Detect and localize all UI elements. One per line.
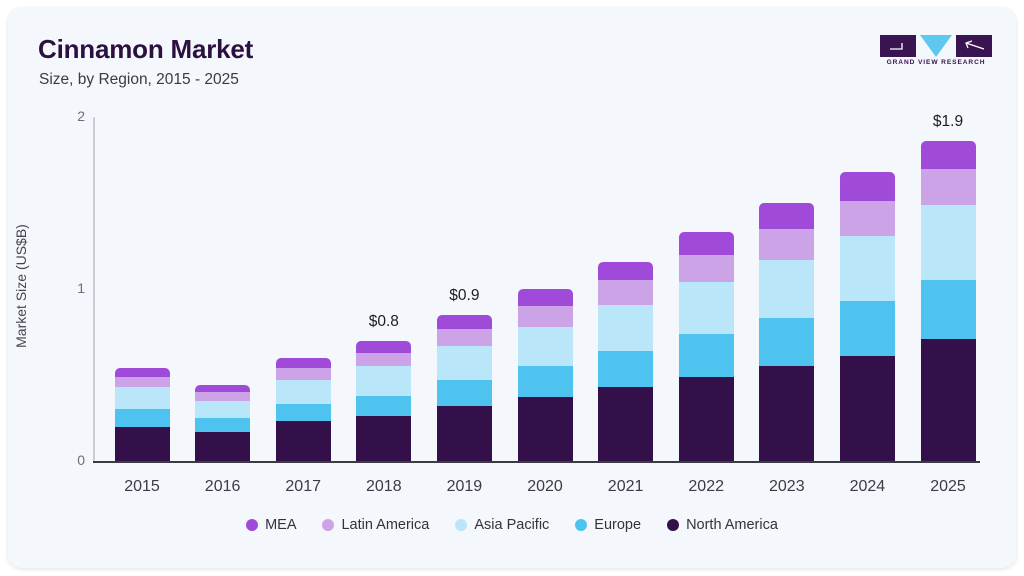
bar-segment-europe <box>921 280 976 338</box>
bar-2019[interactable] <box>437 315 492 461</box>
bar-segment-mea <box>840 172 895 201</box>
x-axis-tick-2015: 2015 <box>102 478 182 496</box>
bar-segment-europe <box>598 351 653 387</box>
x-axis-line <box>93 461 980 463</box>
bar-segment-latin-america <box>276 368 331 380</box>
bar-segment-asia-pacific <box>840 236 895 301</box>
bar-2017[interactable] <box>276 358 331 461</box>
bar-segment-mea <box>598 262 653 281</box>
bar-segment-asia-pacific <box>437 346 492 380</box>
legend-label: North America <box>686 517 778 533</box>
bar-segment-asia-pacific <box>195 401 250 418</box>
legend-item-asia-pacific[interactable]: Asia Pacific <box>455 517 549 533</box>
legend-item-north-america[interactable]: North America <box>667 517 778 533</box>
x-axis-tick-2018: 2018 <box>344 478 424 496</box>
x-axis-tick-2024: 2024 <box>827 478 907 496</box>
legend-swatch-icon <box>575 519 587 531</box>
x-axis-tick-2017: 2017 <box>263 478 343 496</box>
legend-swatch-icon <box>246 519 258 531</box>
y-axis-tick: 0 <box>55 452 85 468</box>
bar-segment-latin-america <box>598 280 653 304</box>
legend-item-latin-america[interactable]: Latin America <box>322 517 429 533</box>
bar-segment-latin-america <box>921 169 976 205</box>
legend-label: MEA <box>265 517 296 533</box>
bar-segment-asia-pacific <box>759 260 814 318</box>
bar-segment-asia-pacific <box>921 205 976 281</box>
x-axis-tick-2025: 2025 <box>908 478 988 496</box>
legend-swatch-icon <box>322 519 334 531</box>
legend-label: Latin America <box>341 517 429 533</box>
bar-segment-mea <box>518 289 573 306</box>
bar-segment-asia-pacific <box>518 327 573 367</box>
y-axis-line <box>93 117 95 461</box>
bar-2025[interactable] <box>921 141 976 461</box>
legend-swatch-icon <box>667 519 679 531</box>
bar-segment-mea <box>195 385 250 392</box>
bar-segment-latin-america <box>840 201 895 235</box>
x-axis-tick-2023: 2023 <box>747 478 827 496</box>
bar-segment-mea <box>276 358 331 368</box>
x-axis-tick-2019: 2019 <box>424 478 504 496</box>
chart-legend: MEALatin AmericaAsia PacificEuropeNorth … <box>8 517 1016 533</box>
legend-label: Europe <box>594 517 641 533</box>
x-axis-tick-2016: 2016 <box>183 478 263 496</box>
bar-value-label-2018: $0.8 <box>344 313 424 331</box>
chart-card: Cinnamon Market Size, by Region, 2015 - … <box>8 8 1016 568</box>
bar-2015[interactable] <box>115 368 170 461</box>
legend-label: Asia Pacific <box>474 517 549 533</box>
bar-segment-asia-pacific <box>115 387 170 409</box>
bar-segment-north-america <box>115 427 170 461</box>
legend-item-europe[interactable]: Europe <box>575 517 641 533</box>
x-axis-tick-2022: 2022 <box>666 478 746 496</box>
bar-segment-europe <box>679 334 734 377</box>
x-axis-tick-2020: 2020 <box>505 478 585 496</box>
bar-segment-asia-pacific <box>276 380 331 404</box>
bar-segment-north-america <box>679 377 734 461</box>
bar-segment-latin-america <box>195 392 250 401</box>
bar-segment-mea <box>437 315 492 329</box>
bar-segment-mea <box>679 232 734 254</box>
bar-value-label-2025: $1.9 <box>908 113 988 131</box>
bar-2021[interactable] <box>598 262 653 461</box>
bar-segment-north-america <box>276 421 331 461</box>
bar-segment-north-america <box>195 432 250 461</box>
bar-segment-north-america <box>759 366 814 461</box>
bar-segment-europe <box>356 396 411 417</box>
bar-2022[interactable] <box>679 232 734 461</box>
bar-segment-north-america <box>598 387 653 461</box>
bar-segment-mea <box>921 141 976 169</box>
bar-segment-mea <box>759 203 814 229</box>
x-axis-tick-2021: 2021 <box>586 478 666 496</box>
bar-segment-mea <box>115 368 170 377</box>
bar-segment-europe <box>840 301 895 356</box>
bar-2018[interactable] <box>356 341 411 461</box>
bar-segment-latin-america <box>518 306 573 327</box>
bar-2024[interactable] <box>840 172 895 461</box>
bar-segment-north-america <box>356 416 411 461</box>
bar-segment-north-america <box>921 339 976 461</box>
bar-segment-latin-america <box>437 329 492 346</box>
bar-segment-north-america <box>518 397 573 461</box>
bar-segment-europe <box>437 380 492 406</box>
bar-2016[interactable] <box>195 385 250 461</box>
bar-segment-latin-america <box>679 255 734 283</box>
bar-value-label-2019: $0.9 <box>424 287 504 305</box>
legend-swatch-icon <box>455 519 467 531</box>
bar-segment-mea <box>356 341 411 353</box>
bar-segment-asia-pacific <box>679 282 734 334</box>
y-axis-label: Market Size (US$B) <box>13 136 29 436</box>
bar-segment-europe <box>276 404 331 421</box>
stacked-bar-chart: Market Size (US$B) 012 $0.8$0.9$1.9 2015… <box>8 8 1016 568</box>
bar-2020[interactable] <box>518 289 573 461</box>
bar-segment-europe <box>115 409 170 426</box>
bar-segment-north-america <box>840 356 895 461</box>
bar-segment-asia-pacific <box>356 366 411 395</box>
bar-segment-asia-pacific <box>598 305 653 351</box>
bar-segment-latin-america <box>356 353 411 367</box>
bar-segment-latin-america <box>759 229 814 260</box>
bar-segment-europe <box>518 366 573 397</box>
bar-segment-north-america <box>437 406 492 461</box>
y-axis-tick: 1 <box>55 280 85 296</box>
legend-item-mea[interactable]: MEA <box>246 517 296 533</box>
bar-segment-europe <box>195 418 250 432</box>
bar-2023[interactable] <box>759 203 814 461</box>
bar-segment-europe <box>759 318 814 366</box>
y-axis-tick: 2 <box>55 108 85 124</box>
bar-segment-latin-america <box>115 377 170 387</box>
